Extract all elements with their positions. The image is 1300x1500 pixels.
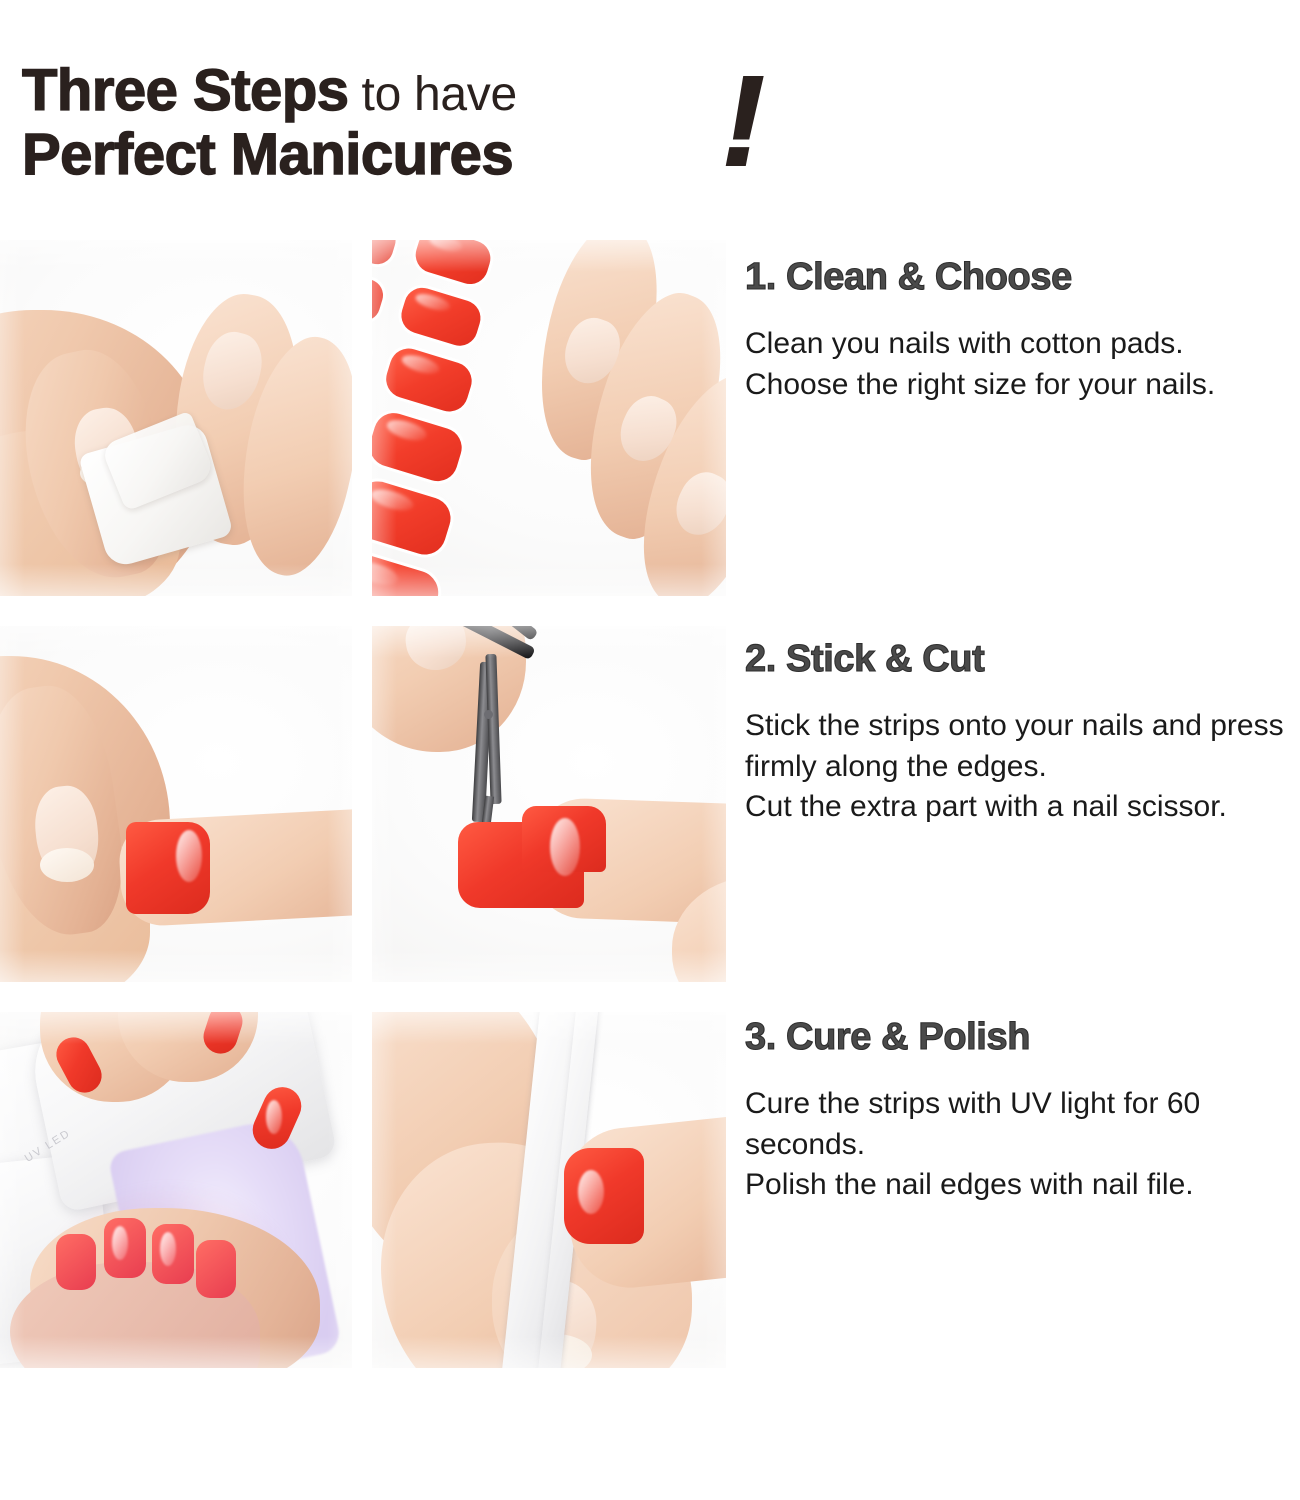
photo-row-step-1	[0, 240, 726, 596]
title-strong-2: Perfect Manicures	[22, 122, 513, 187]
photo-cure-under-uv-lamp: UV LED	[0, 1012, 352, 1368]
page-title: Three Steps to have Perfect Manicures !	[22, 62, 782, 202]
step-2-line-1: Stick the strips onto your nails and pre…	[745, 706, 1290, 788]
exclamation-mark: !	[722, 58, 765, 186]
step-1-body: Clean you nails with cotton pads. Choose…	[745, 324, 1290, 406]
step-2-line-2: Cut the extra part with a nail scissor.	[745, 787, 1290, 828]
photo-stick-strip-on-nail	[0, 626, 352, 982]
step-3-line-2: Polish the nail edges with nail file.	[745, 1165, 1290, 1206]
step-3-line-1: Cure the strips with UV light for 60 sec…	[745, 1084, 1290, 1166]
step-1: 1. Clean & Choose Clean you nails with c…	[745, 258, 1290, 405]
step-1-line-2: Choose the right size for your nails.	[745, 365, 1290, 406]
step-2-heading: 2. Stick & Cut	[745, 640, 1290, 680]
step-1-heading: 1. Clean & Choose	[745, 258, 1290, 298]
photo-grid: UV LED	[0, 240, 726, 1370]
photo-polish-edges-with-nail-file	[372, 1012, 726, 1368]
step-3-heading: 3. Cure & Polish	[745, 1018, 1290, 1058]
step-3: 3. Cure & Polish Cure the strips with UV…	[745, 1018, 1290, 1206]
title-light-1: to have	[349, 68, 517, 121]
step-2: 2. Stick & Cut Stick the strips onto you…	[745, 640, 1290, 828]
title-strong-1: Three Steps	[22, 58, 349, 123]
step-1-line-1: Clean you nails with cotton pads.	[745, 324, 1290, 365]
title-line-1: Three Steps to have	[22, 62, 517, 120]
photo-choose-strip-size	[372, 240, 726, 596]
step-3-body: Cure the strips with UV light for 60 sec…	[745, 1084, 1290, 1206]
photo-row-step-3: UV LED	[0, 1012, 726, 1368]
title-line-2: Perfect Manicures	[22, 126, 513, 184]
photo-row-step-2	[0, 626, 726, 982]
photo-clean-nail-with-cotton-pad	[0, 240, 352, 596]
step-2-body: Stick the strips onto your nails and pre…	[745, 706, 1290, 828]
photo-cut-excess-with-scissor	[372, 626, 726, 982]
